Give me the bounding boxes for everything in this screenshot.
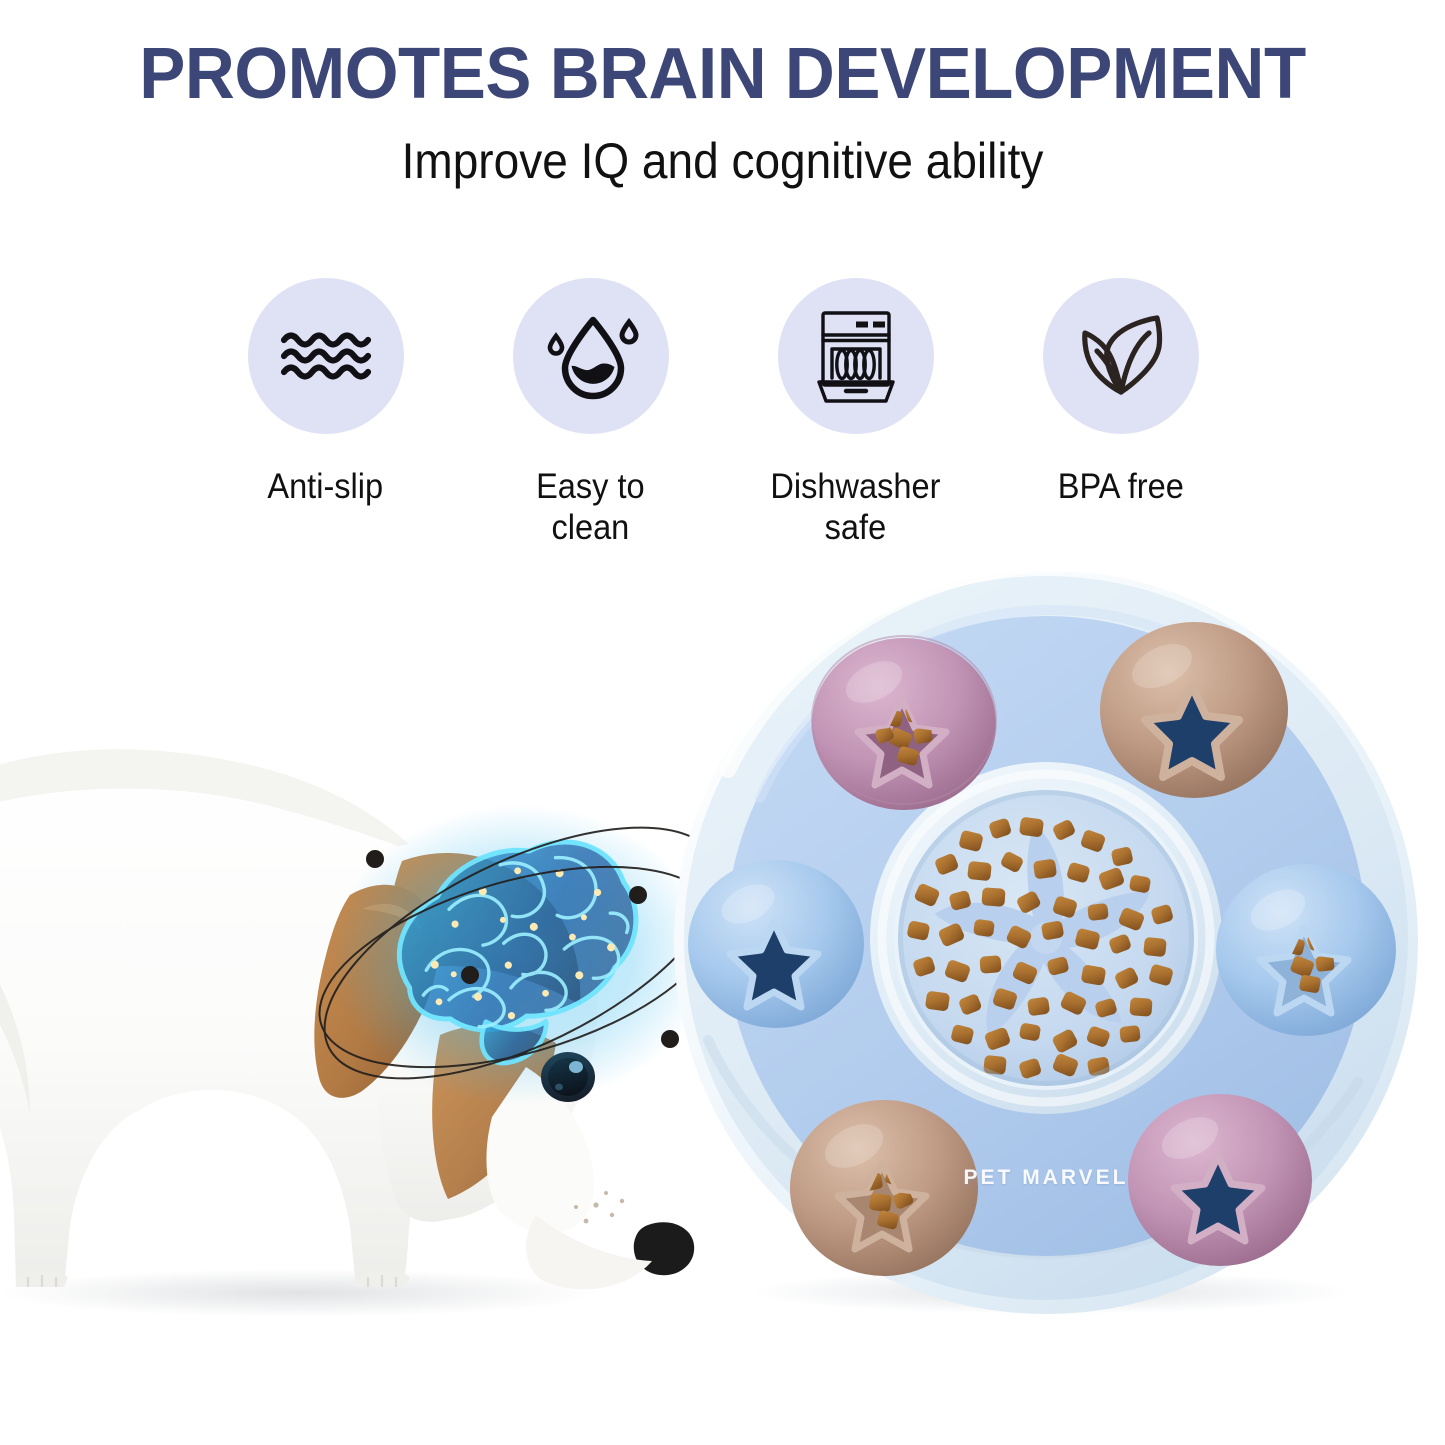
compartment-right-blue: [1216, 864, 1396, 1036]
feature-badges-row: Anti-slip Easy to clean: [208, 278, 1238, 549]
dishwasher-icon: [806, 306, 906, 406]
compartment-left-blue: [688, 860, 864, 1028]
puppy-ground-shadow: [0, 1269, 600, 1317]
compartment-bottom-right-pink: [1128, 1094, 1312, 1266]
feature-icon-badge: [1043, 278, 1199, 434]
compartment-top-right-tan: [1100, 622, 1288, 798]
feature-easy-to-clean: Easy to clean: [473, 278, 708, 549]
feature-label: Easy to clean: [536, 466, 645, 549]
feature-label: Anti-slip: [268, 466, 384, 507]
leaves-icon: [1071, 306, 1171, 406]
center-bowl-floor: [898, 790, 1194, 1086]
slow-feeder-puzzle-bowl-illustration: [668, 570, 1424, 1318]
page-subtitle: Improve IQ and cognitive ability: [58, 110, 1387, 186]
jack-russell-puppy-illustration: [0, 615, 730, 1355]
anti-slip-waves-icon: [276, 306, 376, 406]
feature-icon-badge: [778, 278, 934, 434]
feature-bpa-free: BPA free: [1003, 278, 1238, 507]
feature-anti-slip: Anti-slip: [208, 278, 443, 507]
feature-dishwasher-safe: Dishwasher safe: [738, 278, 973, 549]
compartment-bottom-left-tan: [790, 1100, 978, 1276]
feature-label: Dishwasher safe: [770, 466, 940, 549]
page-title: PROMOTES BRAIN DEVELOPMENT: [29, 38, 1416, 110]
water-droplet-icon: [541, 306, 641, 406]
feature-icon-badge: [513, 278, 669, 434]
header-block: PROMOTES BRAIN DEVELOPMENT Improve IQ an…: [0, 0, 1445, 186]
product-image-slow-feeder-bowl: PET MARVEL: [668, 570, 1424, 1318]
feature-icon-badge: [248, 278, 404, 434]
feature-label: BPA free: [1057, 466, 1183, 507]
puppy-photo: [0, 615, 730, 1355]
